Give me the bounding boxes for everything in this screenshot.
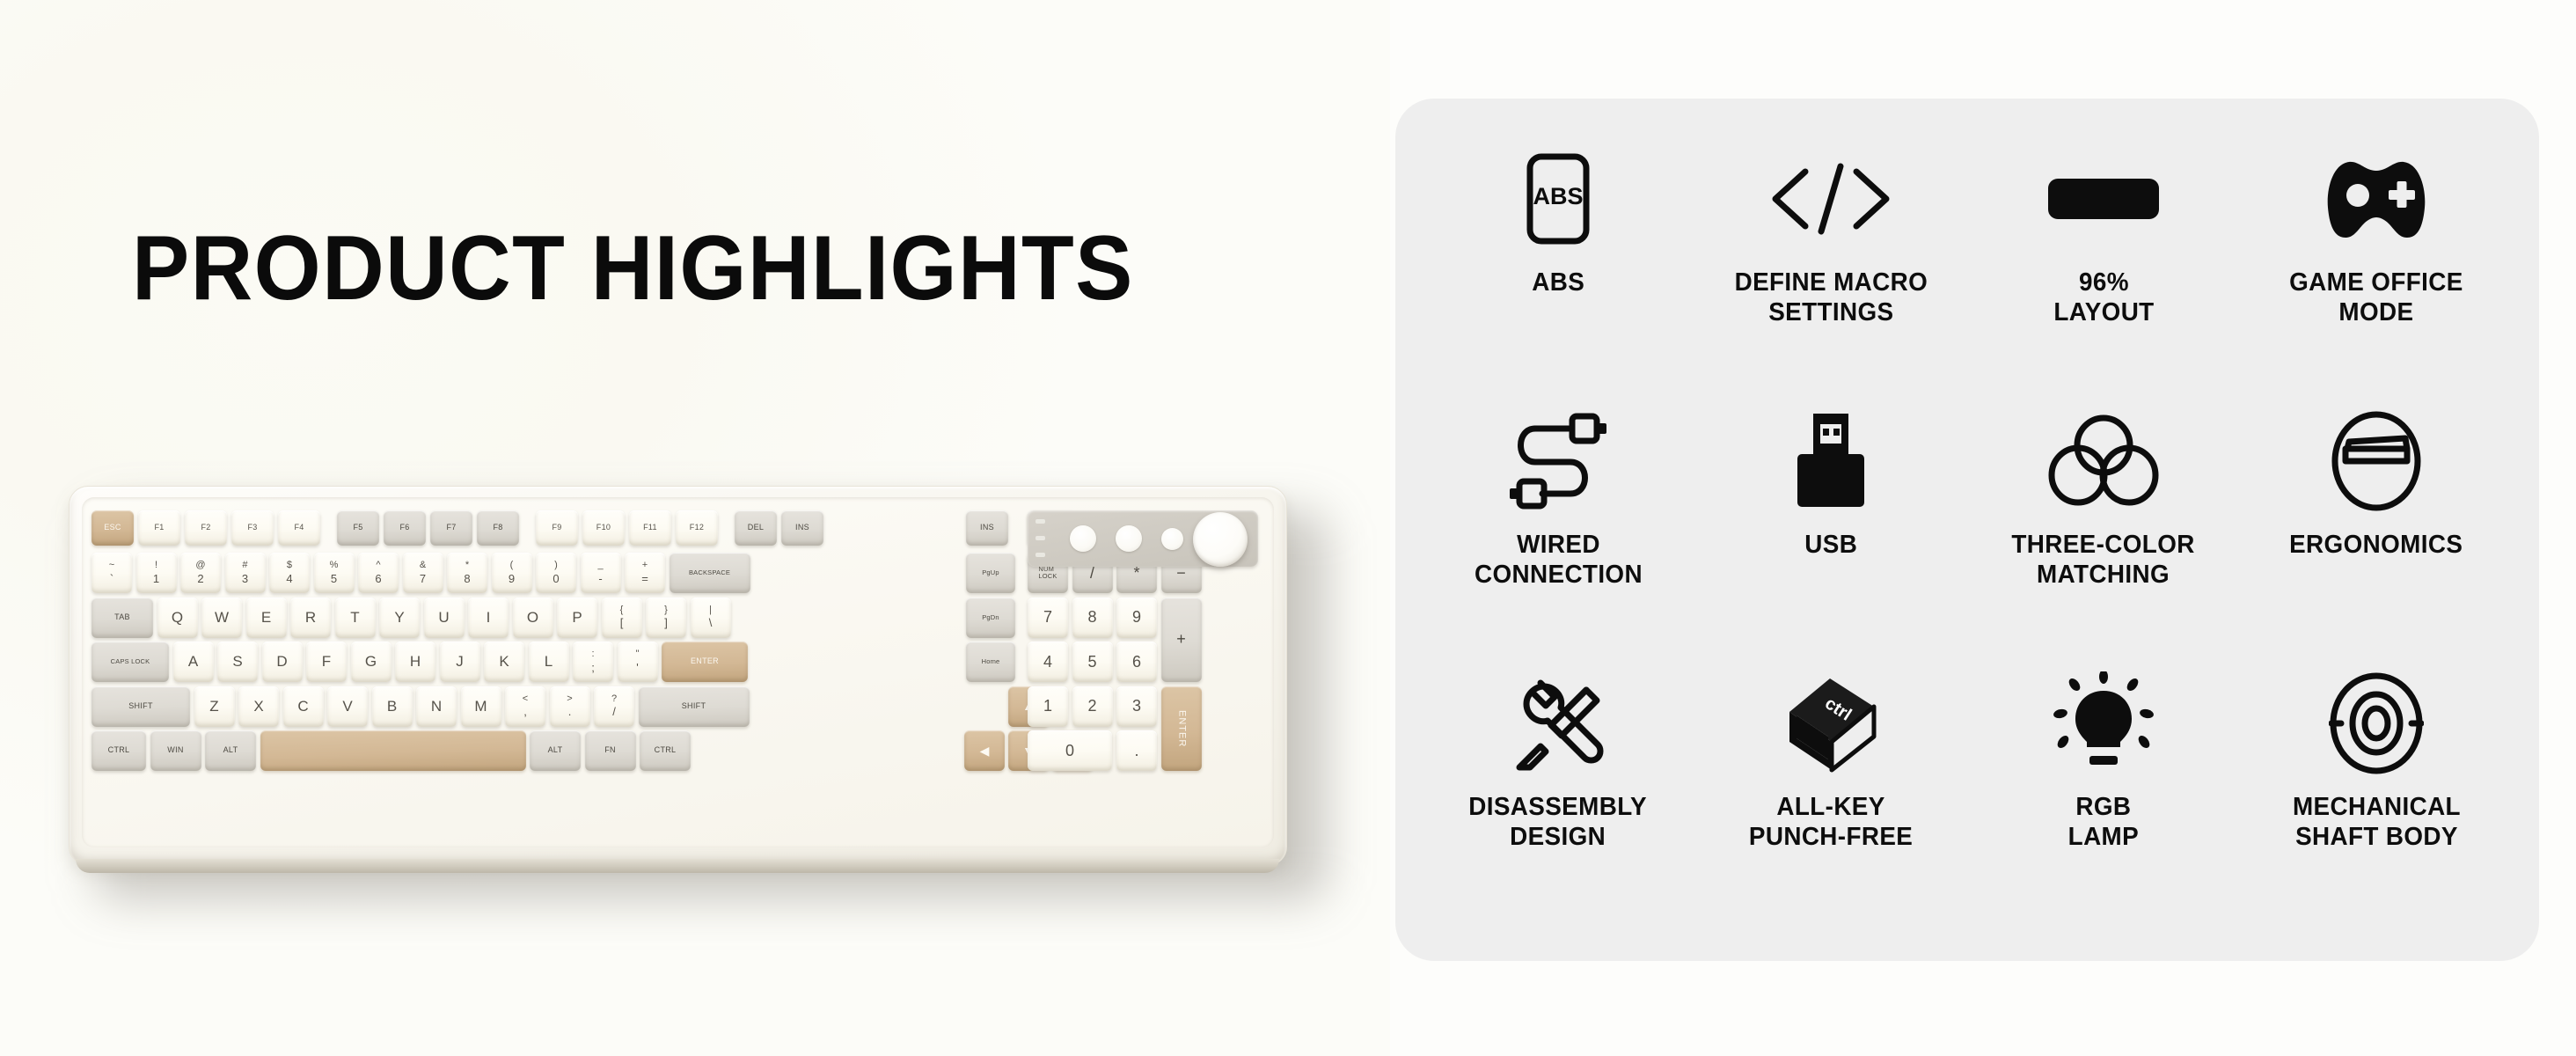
key-h[interactable]: H xyxy=(395,642,435,682)
key-backspace[interactable]: BACKSPACE xyxy=(670,553,750,593)
key-l[interactable]: L xyxy=(529,642,569,682)
indicator-knob-module xyxy=(1028,510,1258,567)
key-f6[interactable]: F6 xyxy=(384,510,426,546)
features-grid: ABS ABS DEFINE MACRO SETTINGS 96% LAYOUT… xyxy=(1395,99,2539,961)
key-shift-left[interactable]: SHIFT xyxy=(91,686,190,727)
key-9[interactable]: (9 xyxy=(492,553,532,593)
key-win-1[interactable]: WIN xyxy=(150,730,201,771)
key-alt-2[interactable]: ALT xyxy=(205,730,256,771)
key-tab[interactable]: TAB xyxy=(91,598,153,638)
feature-item: RGB LAMP xyxy=(1967,664,2240,926)
feature-label: DISASSEMBLY DESIGN xyxy=(1469,792,1648,852)
feature-item: GAME OFFICE MODE xyxy=(2240,139,2513,401)
key-np-6[interactable]: 6 xyxy=(1116,642,1157,682)
feature-label: USB xyxy=(1804,530,1857,560)
key-q[interactable]: Q xyxy=(157,598,198,638)
feature-item: ERGONOMICS xyxy=(2240,401,2513,664)
key-arrow-left[interactable]: ◀ xyxy=(964,730,1005,771)
keyboard-product-image: ESCF1F2F3F4F5F6F7F8F9F10F11F12DELINS~`!1… xyxy=(69,486,1327,891)
key-f1[interactable]: F1 xyxy=(138,510,180,546)
key-np-5[interactable]: 5 xyxy=(1072,642,1113,682)
key-j[interactable]: J xyxy=(440,642,480,682)
key-punct-home-0[interactable]: :; xyxy=(573,642,613,682)
ergonomic-profile-icon xyxy=(2330,407,2423,516)
key-del[interactable]: DEL xyxy=(735,510,777,546)
key-esc[interactable]: ESC xyxy=(91,510,134,546)
ctrl-keycap-3d-icon: ctrl xyxy=(1777,669,1884,778)
feature-label: ABS xyxy=(1532,268,1584,297)
key-pgup[interactable]: PgUp xyxy=(966,553,1015,593)
abs-keycap-icon: ABS xyxy=(1511,144,1606,253)
product-highlights-panel: ABS ABS DEFINE MACRO SETTINGS 96% LAYOUT… xyxy=(1395,99,2539,961)
key-alt-4[interactable]: ALT xyxy=(530,730,581,771)
feature-item: MECHANICAL SHAFT BODY xyxy=(2240,664,2513,926)
key-s[interactable]: S xyxy=(217,642,258,682)
feature-label: RGB LAMP xyxy=(2068,792,2139,852)
svg-text:ABS: ABS xyxy=(1533,183,1583,209)
key-caps-lock[interactable]: CAPS LOCK xyxy=(91,642,169,682)
feature-label: 96% LAYOUT xyxy=(2053,268,2154,327)
feature-item: WIRED CONNECTION xyxy=(1422,401,1694,664)
usb-drive-icon xyxy=(1790,407,1871,516)
page-title: PRODUCT HIGHLIGHTS xyxy=(132,223,1134,314)
key-f9[interactable]: F9 xyxy=(536,510,578,546)
key-f[interactable]: F xyxy=(306,642,347,682)
key-np-9[interactable]: 9 xyxy=(1116,598,1157,638)
key--[interactable]: _- xyxy=(581,553,621,593)
key-f4[interactable]: F4 xyxy=(278,510,320,546)
code-brackets-icon xyxy=(1765,144,1897,253)
key-u[interactable]: U xyxy=(424,598,465,638)
gamepad-icon xyxy=(2323,144,2430,253)
key-punct-shift-1[interactable]: >. xyxy=(550,686,590,727)
key-1[interactable]: !1 xyxy=(136,553,177,593)
key-nav-top[interactable]: INS xyxy=(966,510,1008,546)
layout-bar-icon xyxy=(2045,144,2162,253)
key-k[interactable]: K xyxy=(484,642,524,682)
key-f8[interactable]: F8 xyxy=(477,510,519,546)
key-punct-shift-0[interactable]: <, xyxy=(505,686,545,727)
key-end[interactable]: Home xyxy=(966,642,1015,682)
key-np-7[interactable]: 7 xyxy=(1028,598,1068,638)
key-f11[interactable]: F11 xyxy=(629,510,671,546)
key-t[interactable]: T xyxy=(335,598,376,638)
key-i[interactable]: I xyxy=(468,598,509,638)
key-f2[interactable]: F2 xyxy=(185,510,227,546)
key-np-4[interactable]: 4 xyxy=(1028,642,1068,682)
key-f7[interactable]: F7 xyxy=(430,510,472,546)
key-space[interactable] xyxy=(260,730,526,771)
key-0[interactable]: )0 xyxy=(536,553,576,593)
key-punct-0[interactable]: {[ xyxy=(602,598,642,638)
keyboard-base-edge xyxy=(76,859,1279,873)
key-shift-right[interactable]: SHIFT xyxy=(639,686,750,727)
key-5[interactable]: %5 xyxy=(314,553,355,593)
key-f10[interactable]: F10 xyxy=(582,510,625,546)
key-ins[interactable]: INS xyxy=(781,510,823,546)
key-7[interactable]: &7 xyxy=(403,553,443,593)
key-f12[interactable]: F12 xyxy=(676,510,718,546)
key-x[interactable]: X xyxy=(238,686,279,727)
key-z[interactable]: Z xyxy=(194,686,235,727)
feature-item: USB xyxy=(1694,401,1967,664)
key-e[interactable]: E xyxy=(246,598,287,638)
led-indicator xyxy=(1070,525,1096,552)
hero-left-panel: PRODUCT HIGHLIGHTS ESCF1F2F3F4F5F6F7F8F9… xyxy=(0,0,1390,1056)
key-2[interactable]: @2 xyxy=(180,553,221,593)
switch-target-icon xyxy=(2329,669,2424,778)
indicator-dash xyxy=(1036,536,1045,540)
feature-label: THREE-COLOR MATCHING xyxy=(2012,530,2195,590)
key-m[interactable]: M xyxy=(461,686,501,727)
key-c[interactable]: C xyxy=(283,686,324,727)
key-f3[interactable]: F3 xyxy=(231,510,274,546)
indicator-dash xyxy=(1036,519,1045,524)
key-np-2[interactable]: 2 xyxy=(1072,686,1113,727)
feature-label: MECHANICAL SHAFT BODY xyxy=(2293,792,2461,852)
key-np-1[interactable]: 1 xyxy=(1028,686,1068,727)
key-g[interactable]: G xyxy=(351,642,392,682)
key-np-dot[interactable]: . xyxy=(1116,730,1157,771)
indicator-dash xyxy=(1036,553,1045,557)
feature-item: 96% LAYOUT xyxy=(1967,139,2240,401)
key-n[interactable]: N xyxy=(416,686,457,727)
key-a[interactable]: A xyxy=(173,642,214,682)
key-punct-2[interactable]: |\ xyxy=(691,598,731,638)
key-f5[interactable]: F5 xyxy=(337,510,379,546)
key-np-3[interactable]: 3 xyxy=(1116,686,1157,727)
key-`[interactable]: ~` xyxy=(91,553,132,593)
key-punct-shift-2[interactable]: ?/ xyxy=(594,686,634,727)
feature-item: DEFINE MACRO SETTINGS xyxy=(1694,139,1967,401)
three-circles-icon xyxy=(2047,407,2160,516)
feature-label: ERGONOMICS xyxy=(2289,530,2463,560)
feature-item: ctrl ALL-KEY PUNCH-FREE xyxy=(1694,664,1967,926)
key-np-0[interactable]: 0 xyxy=(1028,730,1112,771)
key-ctrl-6[interactable]: CTRL xyxy=(640,730,691,771)
key-v[interactable]: V xyxy=(327,686,368,727)
key-6[interactable]: ^6 xyxy=(358,553,399,593)
feature-label: GAME OFFICE MODE xyxy=(2289,268,2463,327)
key-punct-home-1[interactable]: "' xyxy=(618,642,658,682)
lightbulb-icon xyxy=(2053,669,2154,778)
key-fn-5[interactable]: FN xyxy=(585,730,636,771)
key-ctrl-0[interactable]: CTRL xyxy=(91,730,146,771)
key-enter[interactable]: ENTER xyxy=(662,642,748,682)
feature-label: WIRED CONNECTION xyxy=(1474,530,1642,590)
led-indicator xyxy=(1116,525,1142,552)
key-punct-1[interactable]: }] xyxy=(646,598,686,638)
feature-item: ABS ABS xyxy=(1422,139,1694,401)
key-b[interactable]: B xyxy=(372,686,413,727)
key-3[interactable]: #3 xyxy=(225,553,266,593)
feature-label: DEFINE MACRO SETTINGS xyxy=(1734,268,1928,327)
key-o[interactable]: O xyxy=(513,598,553,638)
key-np-plus[interactable]: + xyxy=(1161,598,1202,683)
key-np-8[interactable]: 8 xyxy=(1072,598,1113,638)
feature-item: DISASSEMBLY DESIGN xyxy=(1422,664,1694,926)
volume-knob[interactable] xyxy=(1193,512,1248,567)
cable-icon xyxy=(1504,407,1613,516)
feature-label: ALL-KEY PUNCH-FREE xyxy=(1749,792,1913,852)
key-w[interactable]: W xyxy=(201,598,242,638)
feature-item: THREE-COLOR MATCHING xyxy=(1967,401,2240,664)
key-r[interactable]: R xyxy=(290,598,331,638)
key-p[interactable]: P xyxy=(557,598,597,638)
key-home[interactable]: PgDn xyxy=(966,598,1015,638)
key-np-enter[interactable]: ENTER xyxy=(1161,686,1202,772)
key-y[interactable]: Y xyxy=(379,598,420,638)
key-d[interactable]: D xyxy=(262,642,303,682)
tools-icon xyxy=(1509,669,1607,778)
key-=[interactable]: += xyxy=(625,553,665,593)
key-8[interactable]: *8 xyxy=(447,553,487,593)
key-4[interactable]: $4 xyxy=(269,553,310,593)
led-indicator xyxy=(1161,528,1183,550)
